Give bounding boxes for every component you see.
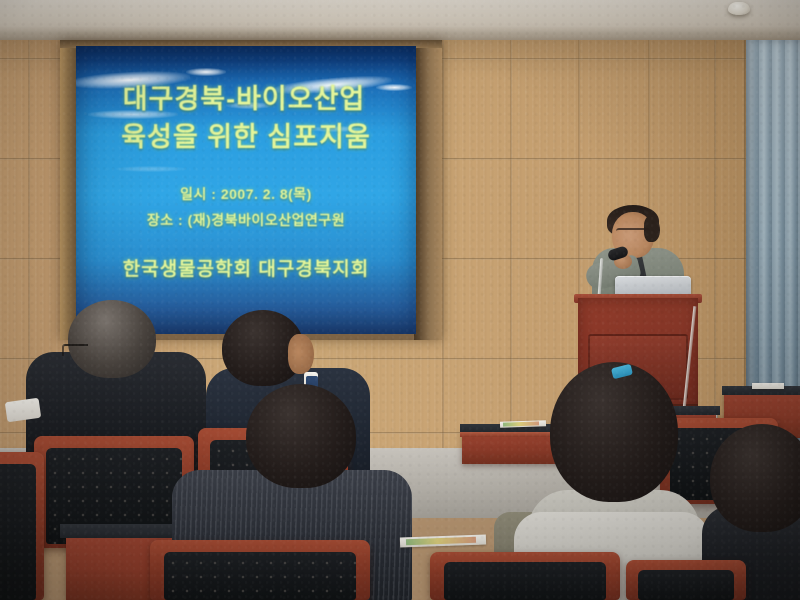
projection-screen: 대구경북-바이오산업 육성을 위한 심포지움 일시 : 2007. 2. 8(목… xyxy=(76,46,416,334)
auditorium-chair xyxy=(626,560,746,600)
auditorium-chair xyxy=(430,552,620,600)
chair-cushion xyxy=(638,570,734,600)
photograph-scene: 대구경북-바이오산업 육성을 위한 심포지움 일시 : 2007. 2. 8(목… xyxy=(0,0,800,600)
audience-head xyxy=(68,300,156,378)
slide-title-line-2: 육성을 위한 심포지움 xyxy=(84,118,408,156)
wall-seam xyxy=(442,40,444,510)
audience-head xyxy=(710,424,800,532)
alcove-left-edge xyxy=(60,40,76,340)
chair-cushion xyxy=(0,464,36,600)
speaker-glasses xyxy=(616,228,650,235)
chair-studs xyxy=(164,552,356,600)
audience-face-profile xyxy=(288,334,314,374)
slide-content: 대구경북-바이오산업 육성을 위한 심포지움 일시 : 2007. 2. 8(목… xyxy=(76,46,416,334)
slide-date-label: 일시 : 2007. 2. 8(목) xyxy=(84,181,408,208)
auditorium-chair xyxy=(0,452,44,600)
auditorium-chair xyxy=(150,540,370,600)
slide-title-line-1: 대구경북-바이오산업 xyxy=(80,80,408,118)
audience-head xyxy=(550,362,678,502)
chair-cushion xyxy=(164,552,356,600)
slide-venue-label: 장소 : (재)경북바이오산업연구원 xyxy=(84,207,408,234)
paper-handout xyxy=(752,383,784,389)
slide-host-label: 한국생물공학회 대구경북지회 xyxy=(84,254,408,281)
chair-cushion xyxy=(444,562,606,600)
eyeglasses xyxy=(62,344,88,356)
alcove-right-edge xyxy=(414,40,442,340)
audience-head xyxy=(246,384,356,488)
slide-meta-block: 일시 : 2007. 2. 8(목) 장소 : (재)경북바이오산업연구원 xyxy=(84,181,408,234)
ceiling-light-icon xyxy=(728,2,750,15)
